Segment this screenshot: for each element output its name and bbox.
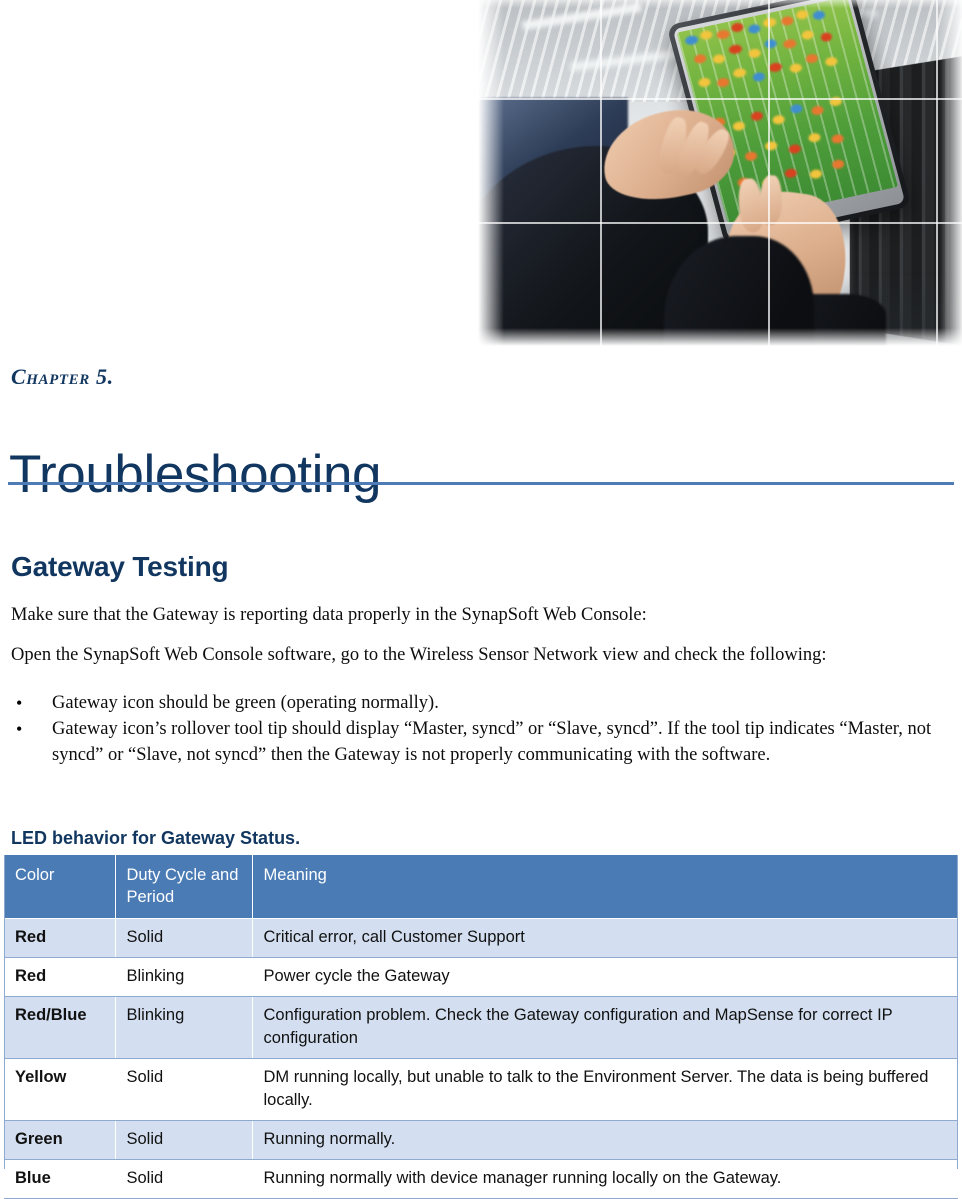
list-item-text: Gateway icon should be green (operating …	[52, 693, 439, 713]
table-row: Red Blinking Power cycle the Gateway	[4, 958, 958, 997]
table-right-border	[957, 855, 958, 1169]
column-header-meaning: Meaning	[252, 855, 958, 919]
table-row: Green Solid Running normally.	[4, 1121, 958, 1160]
table-row: Red Solid Critical error, call Customer …	[4, 919, 958, 958]
list-item-text: Gateway icon’s rollover tool tip should …	[52, 719, 931, 765]
cell-color: Blue	[4, 1160, 115, 1199]
column-header-duty-cycle: Duty Cycle and Period	[115, 855, 252, 919]
chapter-hero-image	[478, 0, 962, 346]
cell-color: Green	[4, 1121, 115, 1160]
cell-duty: Blinking	[115, 997, 252, 1059]
title-divider	[8, 482, 954, 485]
cell-meaning: Configuration problem. Check the Gateway…	[252, 997, 958, 1059]
cell-meaning: Running normally.	[252, 1121, 958, 1160]
cell-color: Red	[4, 958, 115, 997]
cell-meaning: Power cycle the Gateway	[252, 958, 958, 997]
bullet-icon: •	[16, 716, 22, 742]
list-item: • Gateway icon’s rollover tool tip shoul…	[11, 716, 941, 768]
cell-meaning: Critical error, call Customer Support	[252, 919, 958, 958]
cell-duty: Solid	[115, 919, 252, 958]
cell-color: Yellow	[4, 1059, 115, 1121]
section-heading-gateway-testing: Gateway Testing	[11, 551, 228, 583]
table-row: Red/Blue Blinking Configuration problem.…	[4, 997, 958, 1059]
cell-duty: Solid	[115, 1160, 252, 1199]
cell-duty: Blinking	[115, 958, 252, 997]
tablet-screen-heatmap	[677, 0, 898, 223]
column-header-color: Color	[4, 855, 115, 919]
table-row: Yellow Solid DM running locally, but una…	[4, 1059, 958, 1121]
table-row: Blue Solid Running normally with device …	[4, 1160, 958, 1199]
cell-duty: Solid	[115, 1059, 252, 1121]
heatmap-blobs	[677, 0, 898, 223]
chapter-label: Chapter 5.	[11, 364, 114, 390]
table-header-row: Color Duty Cycle and Period Meaning	[4, 855, 958, 919]
table-caption: LED behavior for Gateway Status.	[11, 828, 300, 849]
cell-color: Red	[4, 919, 115, 958]
page-title: Troubleshooting	[9, 444, 381, 506]
hero-photo	[478, 0, 962, 346]
cell-meaning: Running normally with device manager run…	[252, 1160, 958, 1199]
checklist: • Gateway icon should be green (operatin…	[11, 690, 941, 768]
led-status-table: Color Duty Cycle and Period Meaning Red …	[4, 855, 958, 1199]
body-paragraph: Open the SynapSoft Web Console software,…	[11, 642, 929, 668]
table-left-border	[4, 855, 5, 1169]
list-item: • Gateway icon should be green (operatin…	[11, 690, 941, 716]
bullet-icon: •	[16, 690, 22, 716]
cell-color: Red/Blue	[4, 997, 115, 1059]
cell-meaning: DM running locally, but unable to talk t…	[252, 1059, 958, 1121]
body-paragraph: Make sure that the Gateway is reporting …	[11, 602, 937, 628]
cell-duty: Solid	[115, 1121, 252, 1160]
